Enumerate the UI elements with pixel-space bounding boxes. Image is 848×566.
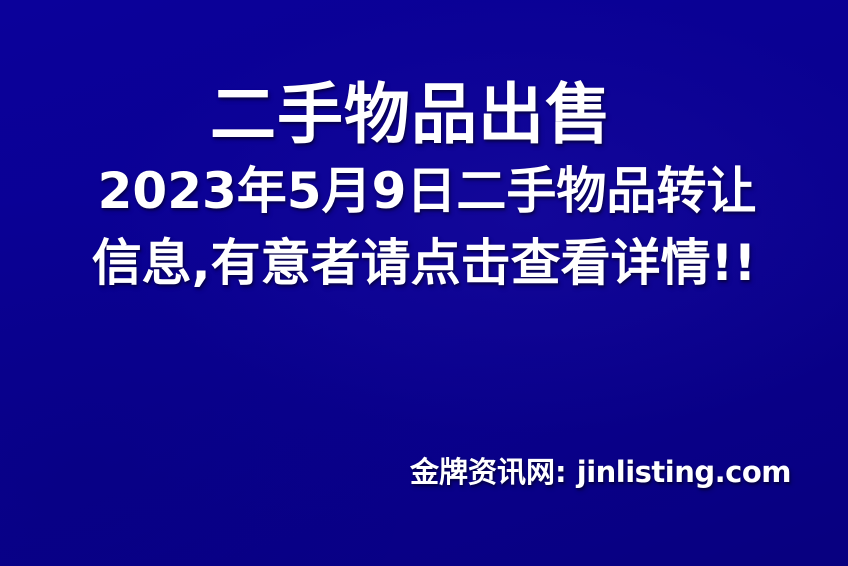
announcement-line-2: 信息,有意者请点击查看详情!!	[0, 227, 848, 299]
page-title: 二手物品出售	[0, 75, 848, 155]
site-credit: 金牌资讯网: jinlisting.com	[410, 455, 791, 489]
announcement-body: 2023年5月9日二手物品转让 信息,有意者请点击查看详情!!	[0, 155, 848, 299]
site-name-label: 金牌资讯网:	[410, 455, 567, 489]
announcement-line-1: 2023年5月9日二手物品转让	[0, 155, 848, 227]
promo-poster: 二手物品出售 2023年5月9日二手物品转让 信息,有意者请点击查看详情!! 金…	[0, 0, 848, 566]
site-url-label: jinlisting.com	[577, 455, 791, 489]
